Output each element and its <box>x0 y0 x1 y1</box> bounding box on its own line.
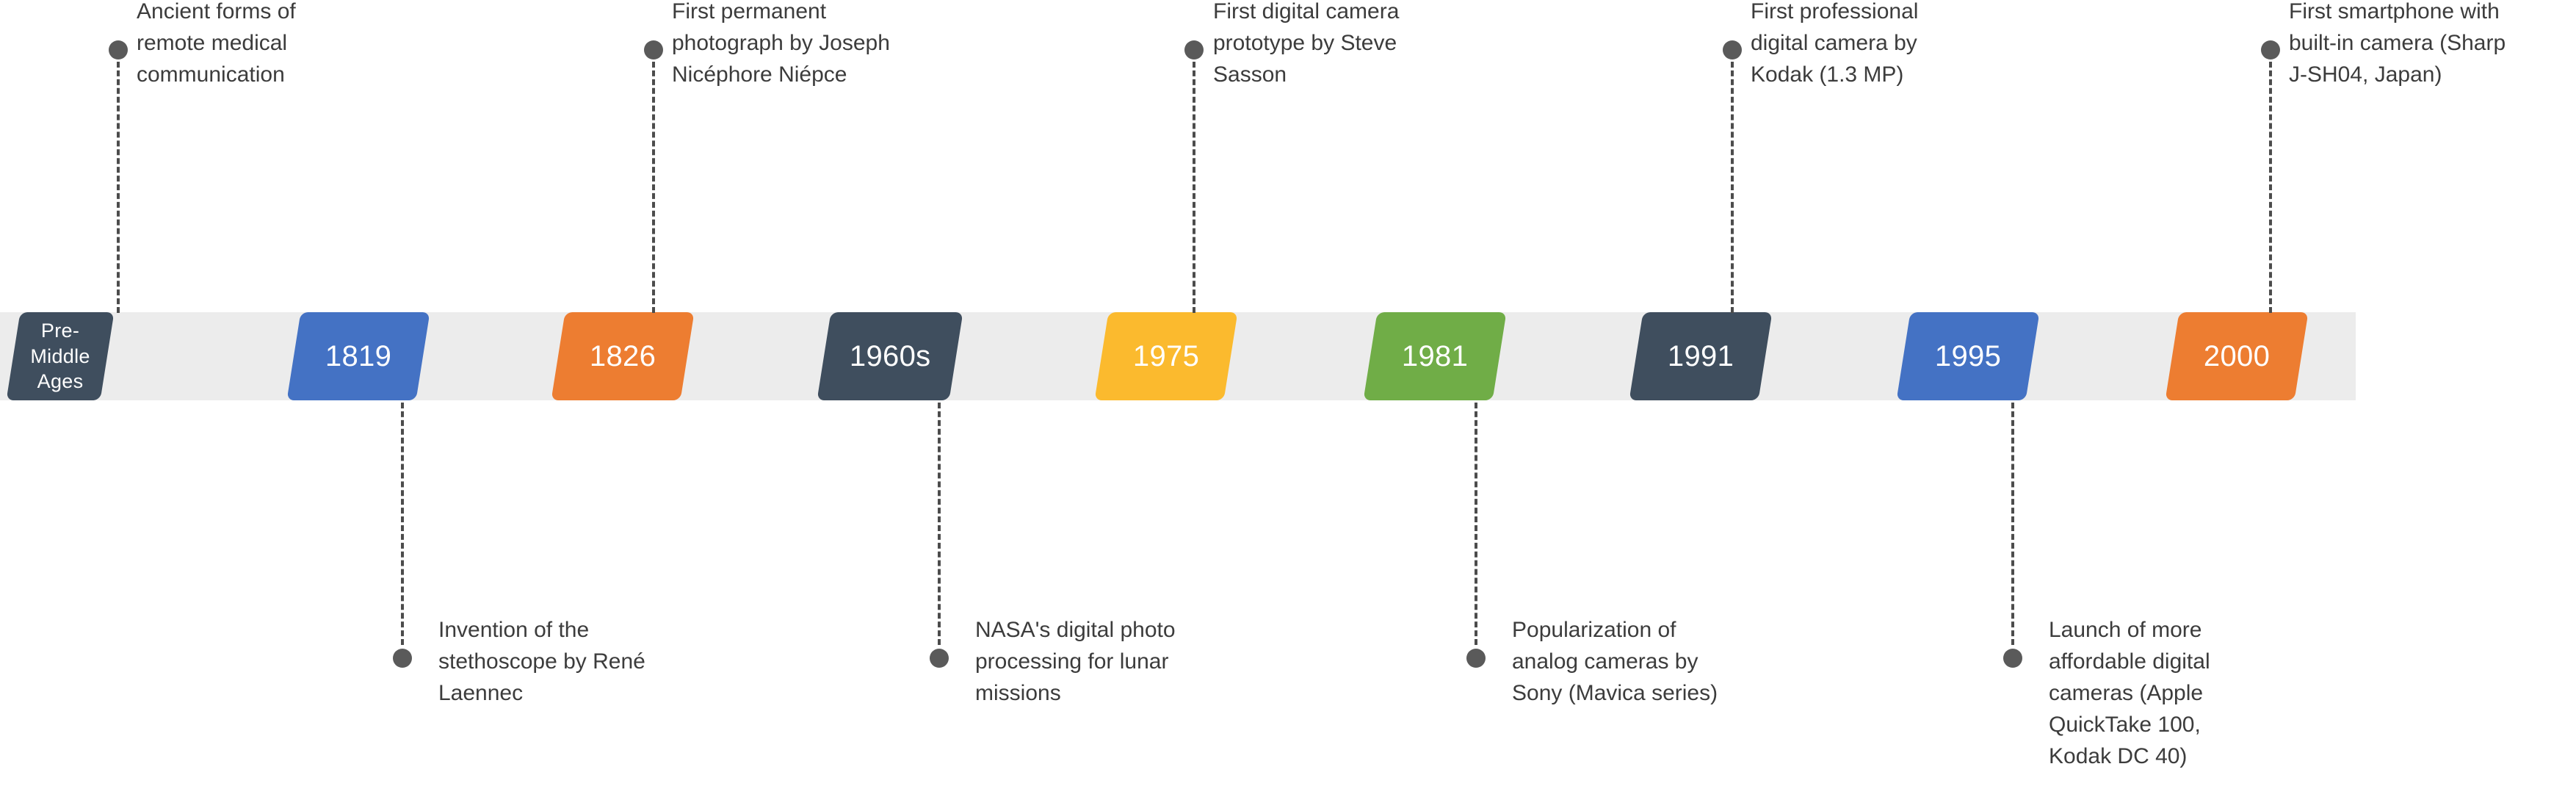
connector-dot-pre-middle-ages <box>109 40 128 60</box>
timeline-milestone-1975[interactable]: 1975 <box>1094 312 1237 400</box>
connector-dot-1975 <box>1184 40 1204 60</box>
connector-line-pre-middle-ages <box>117 62 120 313</box>
connector-dot-1819 <box>393 649 412 668</box>
connector-dot-1995 <box>2003 649 2022 668</box>
callout-1826: First permanent photograph by Joseph Nic… <box>672 0 966 91</box>
connector-dot-1826 <box>644 40 663 60</box>
callout-1819: Invention of the stethoscope by René Lae… <box>438 615 703 710</box>
callout-1975: First digital camera prototype by Steve … <box>1213 0 1477 91</box>
connector-line-1960s <box>938 403 941 645</box>
connector-dot-1991 <box>1723 40 1742 60</box>
timeline-milestone-label: 1819 <box>321 340 396 373</box>
connector-dot-1960s <box>930 649 949 668</box>
timeline-milestone-label: 1826 <box>585 340 660 373</box>
timeline-milestone-2000[interactable]: 2000 <box>2165 312 2308 400</box>
callout-1960s: NASA's digital photo processing for luna… <box>975 615 1254 710</box>
timeline-milestone-label: 2000 <box>2199 340 2274 373</box>
connector-line-1819 <box>401 403 404 645</box>
connector-line-2000 <box>2269 62 2272 313</box>
connector-line-1826 <box>652 62 655 313</box>
timeline-milestone-label: 1991 <box>1663 340 1738 373</box>
timeline-milestone-1826[interactable]: 1826 <box>551 312 694 400</box>
connector-line-1995 <box>2011 403 2014 645</box>
connector-line-1981 <box>1475 403 1477 645</box>
callout-pre-middle-ages: Ancient forms of remote medical communic… <box>137 0 379 91</box>
callout-2000: First smartphone with built-in camera (S… <box>2289 0 2576 91</box>
timeline-milestone-1981[interactable]: 1981 <box>1363 312 1506 400</box>
timeline-milestone-1819[interactable]: 1819 <box>286 312 430 400</box>
connector-line-1975 <box>1193 62 1195 313</box>
timeline-milestone-1995[interactable]: 1995 <box>1896 312 2039 400</box>
timeline-milestone-1960s[interactable]: 1960s <box>817 312 963 400</box>
timeline-milestone-label: 1975 <box>1129 340 1204 373</box>
timeline-infographic: Pre-Middle Ages 1819 1826 1960s 1975 198… <box>0 0 2576 786</box>
timeline-milestone-label: Pre-Middle Ages <box>13 318 107 394</box>
timeline-milestone-label: 1995 <box>1931 340 2005 373</box>
timeline-milestone-label: 1981 <box>1397 340 1472 373</box>
callout-1981: Popularization of analog cameras by Sony… <box>1512 615 1798 710</box>
timeline-milestone-label: 1960s <box>845 340 935 373</box>
connector-dot-1981 <box>1466 649 1486 668</box>
connector-line-1991 <box>1731 62 1734 313</box>
callout-1995: Launch of more affordable digital camera… <box>2049 615 2298 772</box>
timeline-milestone-pre-middle-ages[interactable]: Pre-Middle Ages <box>6 312 114 400</box>
callout-1991: First professional digital camera by Kod… <box>1751 0 2015 91</box>
timeline-milestone-1991[interactable]: 1991 <box>1629 312 1772 400</box>
connector-dot-2000 <box>2261 40 2280 60</box>
